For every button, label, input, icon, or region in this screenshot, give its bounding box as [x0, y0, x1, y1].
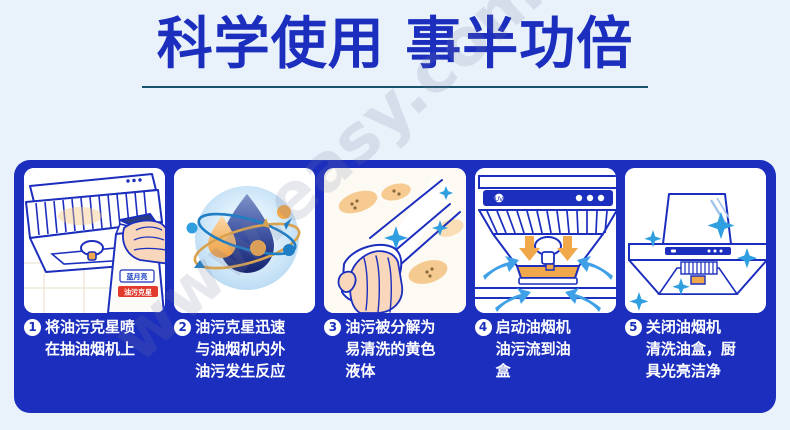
- illustration-panel-3: [324, 168, 465, 313]
- illustration-panel-1: 蓝月亮 油污克星: [24, 168, 165, 313]
- step-caption-3: 3 油污被分解为 易清洗的黄色 液体: [324, 316, 465, 406]
- illustration-panel-4: UV: [475, 168, 616, 313]
- step-caption-text-1: 将油污克星喷 在抽油烟机上: [45, 316, 135, 360]
- range-hood-spray-illustration: 蓝月亮 油污克星: [24, 168, 165, 313]
- step-badge-2: 2: [174, 319, 191, 336]
- step-badge-3: 3: [324, 319, 341, 336]
- droplet-molecule-reaction-illustration: [174, 168, 315, 313]
- step-caption-2: 2 油污克星迅速 与油烟机内外 油污发生反应: [174, 316, 315, 406]
- illustration-panel-5: [625, 168, 766, 313]
- illustration-panel-2: [174, 168, 315, 313]
- illustration-panel-row: 蓝月亮 油污克星: [24, 168, 766, 313]
- title-divider: [142, 86, 648, 88]
- step-badge-4: 4: [475, 319, 492, 336]
- step-caption-4: 4 启动油烟机 油污流到油 盒: [475, 316, 616, 406]
- header: 科学使用 事半功倍: [0, 0, 790, 118]
- page-root: 科学使用 事半功倍: [0, 0, 790, 430]
- svg-text:油污克星: 油污克星: [124, 288, 152, 297]
- step-caption-1: 1 将油污克星喷 在抽油烟机上: [24, 316, 165, 406]
- step-caption-5: 5 关闭油烟机 清洗油盒，厨 具光亮洁净: [625, 316, 766, 406]
- step-caption-text-4: 启动油烟机 油污流到油 盒: [496, 316, 571, 382]
- caption-row: 1 将油污克星喷 在抽油烟机上 2 油污克星迅速 与油烟机内外 油污发生反应 3…: [24, 316, 766, 406]
- svg-text:UV: UV: [494, 196, 503, 203]
- clean-range-hood-sparkle-illustration: [625, 168, 766, 313]
- step-badge-5: 5: [625, 319, 642, 336]
- step-caption-text-2: 油污克星迅速 与油烟机内外 油污发生反应: [195, 316, 285, 382]
- hand-wiping-grease-illustration: [324, 168, 465, 313]
- steps-card: 蓝月亮 油污克星: [14, 160, 776, 413]
- step-caption-text-5: 关闭油烟机 清洗油盒，厨 具光亮洁净: [646, 316, 736, 382]
- step-caption-text-3: 油污被分解为 易清洗的黄色 液体: [345, 316, 435, 382]
- svg-text:蓝月亮: 蓝月亮: [127, 272, 148, 281]
- page-title: 科学使用 事半功倍: [157, 14, 634, 76]
- range-hood-running-airflow-illustration: UV: [475, 168, 616, 313]
- step-badge-1: 1: [24, 319, 41, 336]
